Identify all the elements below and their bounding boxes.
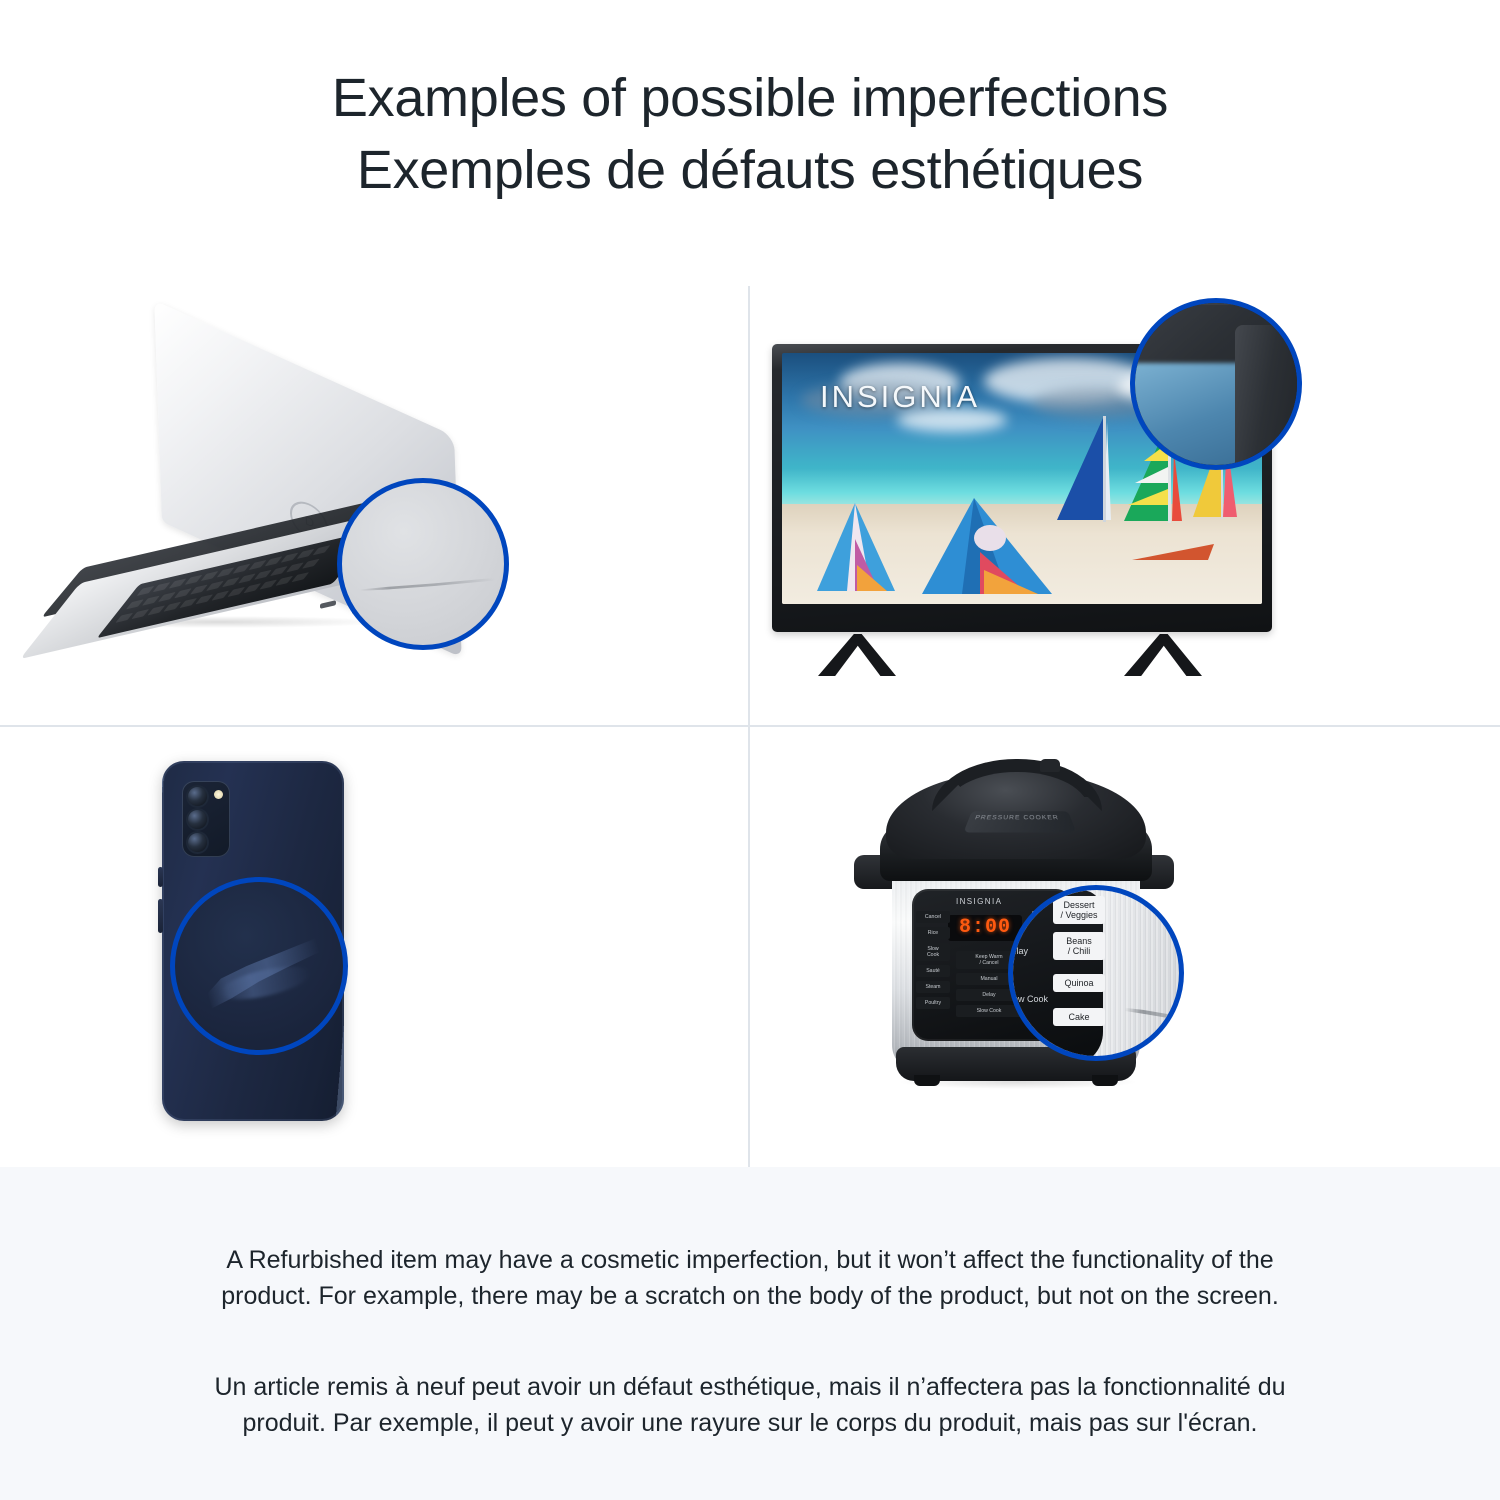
laptop-figure: D [40, 366, 520, 666]
camera-flash-icon [214, 790, 223, 799]
cooker-lid-label: PRESSURE COOKER [963, 811, 1076, 832]
cooker-button[interactable]: Cancel [916, 911, 950, 923]
footer-paragraph-english: A Refurbished item may have a cosmetic i… [190, 1242, 1310, 1314]
camera-lens [188, 833, 207, 852]
cooker-button[interactable]: Rice [916, 927, 950, 939]
phone-power-button [158, 899, 163, 933]
cooker-figure: PRESSURE COOKER INSIGNIA 8:00 Cancel Ric… [840, 737, 1220, 1137]
cooker-button-zoomed: Cake [1053, 1008, 1105, 1026]
cooker-button[interactable]: Sauté [916, 965, 950, 977]
phone-camera-module [182, 781, 230, 857]
cooker-button-column-left[interactable]: Cancel Rice Slow Cook Sauté Steam Poultr… [916, 911, 950, 1009]
phone-illustration [0, 727, 748, 1168]
cooker-imperfection-callout: Delay Slow Cook Dessert / Veggies Beans … [1008, 885, 1184, 1061]
tv-corner-screen-edge [1130, 363, 1243, 470]
camera-lens [188, 787, 207, 806]
grid-cell-television: INSIGNIA [750, 286, 1500, 727]
tv-screen-brand-logo: INSIGNIA [820, 379, 980, 415]
page-title-english: Examples of possible imperfections [332, 62, 1168, 134]
cooker-button[interactable]: Slow Cook [916, 943, 950, 961]
cooker-button-zoomed: Beans / Chili [1053, 932, 1105, 960]
tv-illustration: INSIGNIA [750, 286, 1500, 725]
page-title-french: Exemples de défauts esthétiques [357, 134, 1143, 206]
beach-tent-left [811, 499, 931, 604]
tv-stand-left [818, 634, 896, 676]
product-example-grid: D [0, 286, 1500, 1167]
cooker-button-zoomed: Dessert / Veggies [1053, 896, 1105, 924]
page-footer: A Refurbished item may have a cosmetic i… [0, 1167, 1500, 1500]
footer-paragraph-french: Un article remis à neuf peut avoir un dé… [190, 1369, 1310, 1441]
cooker-steam-vent [1040, 759, 1060, 772]
imperfections-infographic: Examples of possible imperfections Exemp… [0, 0, 1500, 1500]
page-header: Examples of possible imperfections Exemp… [0, 0, 1500, 286]
grid-cell-laptop: D [0, 286, 750, 727]
cooker-led-display: 8:00 [948, 915, 1022, 941]
grid-cell-pressure-cooker: PRESSURE COOKER INSIGNIA 8:00 Cancel Ric… [750, 727, 1500, 1168]
laptop-illustration: D [0, 286, 748, 725]
cooker-button-zoomed: Quinoa [1053, 974, 1105, 992]
beach-tent-center [916, 494, 1076, 604]
phone-imperfection-callout [170, 877, 348, 1055]
cooker-foot [1092, 1075, 1118, 1086]
cooker-brand-label: INSIGNIA [956, 897, 1002, 906]
camera-lens [188, 810, 207, 829]
laptop-usb-port [320, 600, 336, 609]
cooker-button[interactable]: Poultry [916, 997, 950, 1009]
grid-cell-smartphone [0, 727, 750, 1168]
cooker-button-zoomed: Slow Cook [1008, 994, 1051, 1004]
tv-stand-right [1124, 634, 1202, 676]
tv-corner-frame [1235, 325, 1302, 470]
laptop-imperfection-callout [337, 478, 509, 650]
scratch-mark [360, 574, 496, 595]
tv-figure: INSIGNIA [758, 298, 1298, 678]
beached-hull [1128, 534, 1218, 576]
cooker-lid-handle [932, 759, 1102, 811]
cooker-button-zoomed: Delay [1008, 946, 1051, 956]
phone-volume-button [158, 867, 163, 887]
cooker-button[interactable]: Steam [916, 981, 950, 993]
cooker-foot [914, 1075, 940, 1086]
cooker-illustration: PRESSURE COOKER INSIGNIA 8:00 Cancel Ric… [750, 727, 1500, 1168]
tv-imperfection-callout [1130, 298, 1302, 470]
phone-figure [120, 749, 420, 1149]
